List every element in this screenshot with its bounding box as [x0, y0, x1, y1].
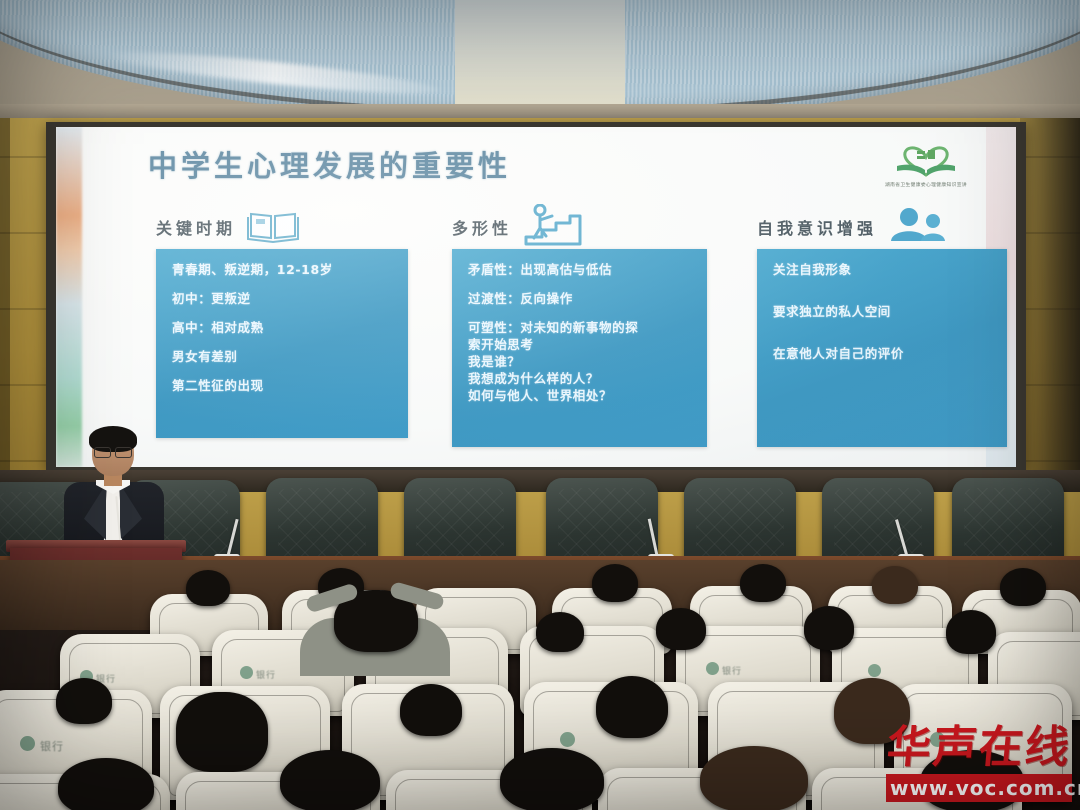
- audience-head: [536, 612, 584, 652]
- box-line: 在意他人对自己的评价: [773, 346, 994, 362]
- slide-column-key-period: 关键时期 青春期、叛逆期，12-18岁 初中：更叛逆: [156, 205, 408, 438]
- slide-columns: 关键时期 青春期、叛逆期，12-18岁 初中：更叛逆: [82, 205, 1016, 460]
- audience-head: [872, 566, 918, 604]
- column-heading-label: 自我意识增强: [757, 215, 877, 239]
- audience-head: [804, 606, 854, 650]
- person-climbing-stairs-icon: [522, 204, 584, 251]
- box-line: 男女有差别: [172, 349, 395, 365]
- audience-head: [280, 750, 380, 810]
- speaker-person: [62, 430, 166, 558]
- box-line: 如何与他人、世界相处？: [468, 388, 694, 404]
- seat-cover-text: 银行: [722, 664, 742, 677]
- heart-book-logo-icon: [893, 135, 959, 179]
- watermark-brand: 华声在线: [884, 726, 1074, 770]
- audience-head: [1000, 568, 1046, 606]
- box-line: 青春期、叛逆期，12-18岁: [172, 262, 395, 278]
- audience-head: [596, 676, 668, 738]
- photo-scene: 中学生心理发展的重要性 湖南省卫生健康委心理健康知识宣讲: [0, 0, 1080, 810]
- projection-screen-frame: 中学生心理发展的重要性 湖南省卫生健康委心理健康知识宣讲: [46, 122, 1026, 472]
- audience-head: [186, 570, 230, 606]
- audience-head: [400, 684, 462, 736]
- slide-title: 中学生心理发展的重要性: [148, 143, 511, 185]
- audience-head: [500, 748, 604, 810]
- audience-head: [176, 692, 268, 772]
- ceiling: [0, 0, 1080, 120]
- presentation-slide: 中学生心理发展的重要性 湖南省卫生健康委心理健康知识宣讲: [56, 127, 1016, 467]
- column-header: 多形性: [452, 205, 707, 249]
- box-line: 索开始思考: [468, 337, 694, 353]
- seat-cover-logo-icon: [20, 736, 35, 751]
- box-line: 我想成为什么样的人？: [468, 371, 694, 387]
- seat-cover-logo-icon: [706, 662, 719, 675]
- seat-cover-logo-icon: [240, 666, 253, 679]
- slide-brand-caption: 湖南省卫生健康委心理健康知识宣讲: [869, 181, 983, 188]
- column-text-box: 青春期、叛逆期，12-18岁 初中：更叛逆 高中：相对成熟 男女有差别 第二性征…: [156, 249, 408, 438]
- box-line: 矛盾性：出现高估与低估: [468, 262, 694, 278]
- box-line: 可塑性：对未知的新事物的探: [468, 320, 694, 336]
- column-heading-label: 关键时期: [156, 215, 236, 239]
- speaker-glasses: [94, 447, 132, 456]
- audience-head: [656, 608, 706, 650]
- audience-head: [946, 610, 996, 654]
- box-line: 过渡性：反向操作: [468, 291, 694, 307]
- box-line: 要求独立的私人空间: [773, 304, 994, 320]
- slide-brand-logo: 湖南省卫生健康委心理健康知识宣讲: [866, 135, 986, 188]
- audience-head: [56, 678, 112, 724]
- seat-cover-text: 银行: [40, 738, 64, 754]
- box-line: 高中：相对成熟: [172, 320, 395, 336]
- audience-head: [58, 758, 154, 810]
- slide-column-self-awareness: 自我意识增强 关注自我形象 要求独立的私人空间: [757, 205, 1007, 447]
- audience-head: [700, 746, 808, 810]
- open-book-icon: [246, 206, 300, 249]
- column-text-box: 矛盾性：出现高估与低估 过渡性：反向操作 可塑性：对未知的新事物的探 索开始思考…: [452, 249, 707, 447]
- box-line: 初中：更叛逆: [172, 291, 395, 307]
- column-heading-label: 多形性: [452, 215, 512, 239]
- column-header: 自我意识增强: [757, 205, 1007, 249]
- box-line: 我是谁？: [468, 354, 694, 370]
- slide-column-polymorphism: 多形性 矛盾性：出现高估与低估 过渡性：反向操作 可塑性：对未知的新事: [452, 205, 707, 447]
- people-group-icon: [887, 207, 945, 248]
- seat-cover-logo-icon: [560, 732, 575, 747]
- audience-head: [592, 564, 638, 602]
- audience-head: [740, 564, 786, 602]
- slide-left-gradient-bar: [56, 127, 82, 467]
- watermark: 华声在线 www.voc.com.cn: [886, 726, 1072, 802]
- column-text-box: 关注自我形象 要求独立的私人空间 在意他人对自己的评价: [757, 249, 1007, 447]
- seat-cover-text: 银行: [256, 668, 276, 681]
- column-header: 关键时期: [156, 205, 408, 249]
- box-line: 第二性征的出现: [172, 378, 395, 394]
- seat-cover-logo-icon: [868, 664, 881, 677]
- watermark-url: www.voc.com.cn: [886, 774, 1072, 802]
- box-line: 关注自我形象: [773, 262, 994, 278]
